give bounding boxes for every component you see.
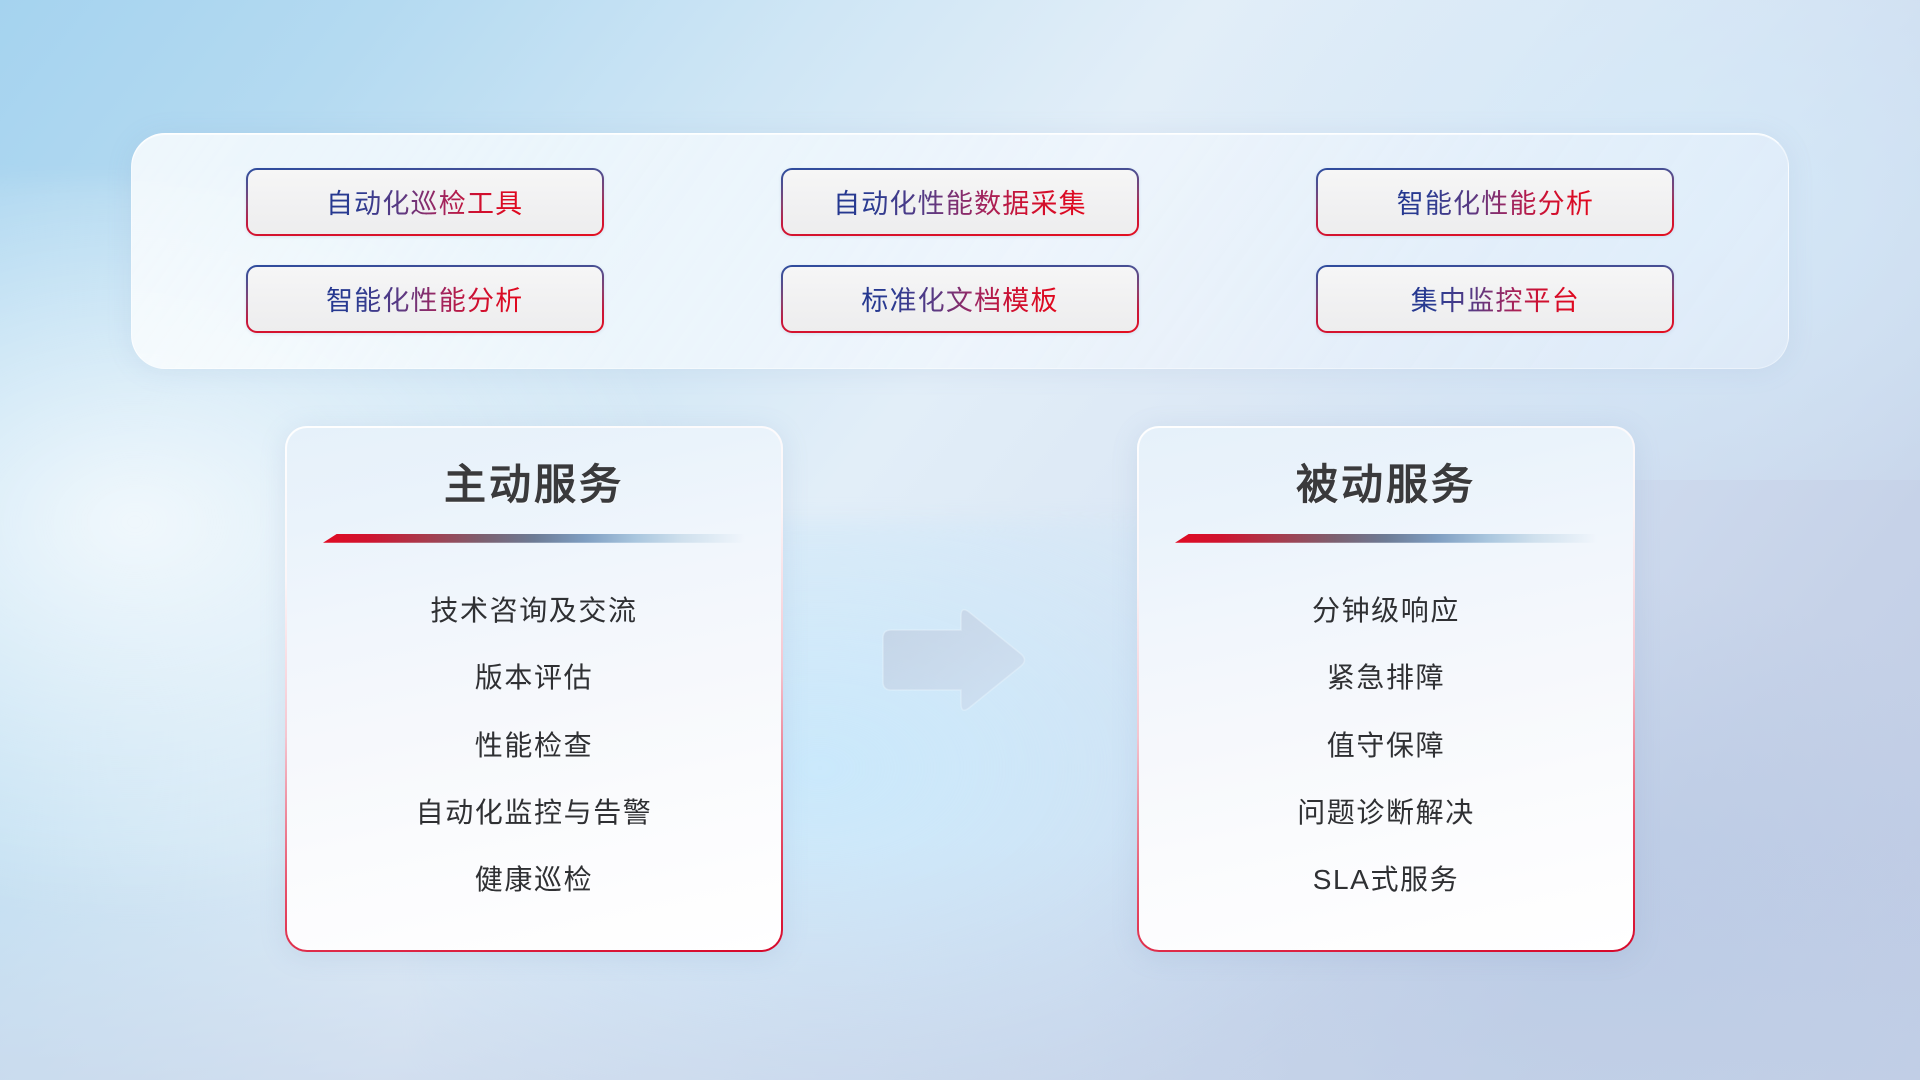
- capability-pill-surface: 自动化性能数据采集: [783, 170, 1137, 234]
- list-item[interactable]: 紧急排障: [1327, 661, 1445, 695]
- list-item[interactable]: SLA式服务: [1313, 863, 1460, 897]
- list-item[interactable]: 性能检查: [475, 729, 593, 763]
- capability-pill-label: 智能化性能分析: [326, 279, 523, 318]
- capabilities-panel: 自动化巡检工具 自动化性能数据采集 智能化性能分析 智能化性能分析 标准化文档模…: [131, 133, 1789, 369]
- capability-pill-automated-inspection-tool[interactable]: 自动化巡检工具: [246, 168, 604, 236]
- passive-service-list: 分钟级响应 紧急排障 值守保障 问题诊断解决 SLA式服务: [1139, 557, 1633, 950]
- list-item[interactable]: 值守保障: [1327, 729, 1445, 763]
- list-item[interactable]: 技术咨询及交流: [430, 594, 637, 628]
- list-item[interactable]: 问题诊断解决: [1297, 796, 1475, 830]
- passive-service-divider: [1175, 534, 1597, 543]
- active-service-list: 技术咨询及交流 版本评估 性能检查 自动化监控与告警 健康巡检: [287, 557, 781, 950]
- capabilities-grid: 自动化巡检工具 自动化性能数据采集 智能化性能分析 智能化性能分析 标准化文档模…: [132, 134, 1788, 368]
- arrow-right-icon: [873, 604, 1028, 716]
- active-service-title: 主动服务: [444, 458, 624, 512]
- list-item[interactable]: 自动化监控与告警: [416, 796, 653, 830]
- capability-pill-surface: 集中监控平台: [1318, 267, 1672, 331]
- passive-service-card[interactable]: 被动服务 分钟级响应 紧急排障 值守保障 问题诊断解决 SLA式服务: [1137, 426, 1635, 952]
- passive-service-title: 被动服务: [1296, 458, 1476, 512]
- active-service-card-surface: 主动服务 技术咨询及交流 版本评估 性能检查 自动化监控与告警 健康巡检: [287, 428, 781, 950]
- capability-pill-label: 自动化巡检工具: [326, 182, 523, 221]
- list-item[interactable]: 版本评估: [475, 661, 593, 695]
- capability-pill-label: 标准化文档模板: [861, 279, 1058, 318]
- capability-pill-standardized-document-template[interactable]: 标准化文档模板: [781, 265, 1139, 333]
- list-item[interactable]: 分钟级响应: [1312, 594, 1460, 628]
- capability-pill-label: 智能化性能分析: [1397, 182, 1594, 221]
- capability-pill-surface: 标准化文档模板: [783, 267, 1137, 331]
- capability-pill-surface: 自动化巡检工具: [248, 170, 602, 234]
- active-service-divider: [323, 534, 745, 543]
- capability-pill-centralized-monitoring-platform[interactable]: 集中监控平台: [1316, 265, 1674, 333]
- list-item[interactable]: 健康巡检: [475, 863, 593, 897]
- capability-pill-intelligent-performance-analysis[interactable]: 智能化性能分析: [1316, 168, 1674, 236]
- capability-pill-surface: 智能化性能分析: [1318, 170, 1672, 234]
- capability-pill-surface: 智能化性能分析: [248, 267, 602, 331]
- capability-pill-label: 集中监控平台: [1411, 279, 1580, 318]
- capability-pill-label: 自动化性能数据采集: [833, 182, 1087, 221]
- passive-service-card-surface: 被动服务 分钟级响应 紧急排障 值守保障 问题诊断解决 SLA式服务: [1139, 428, 1633, 950]
- active-service-card[interactable]: 主动服务 技术咨询及交流 版本评估 性能检查 自动化监控与告警 健康巡检: [285, 426, 783, 952]
- capability-pill-intelligent-performance-analysis-2[interactable]: 智能化性能分析: [246, 265, 604, 333]
- capability-pill-automated-performance-data-collection[interactable]: 自动化性能数据采集: [781, 168, 1139, 236]
